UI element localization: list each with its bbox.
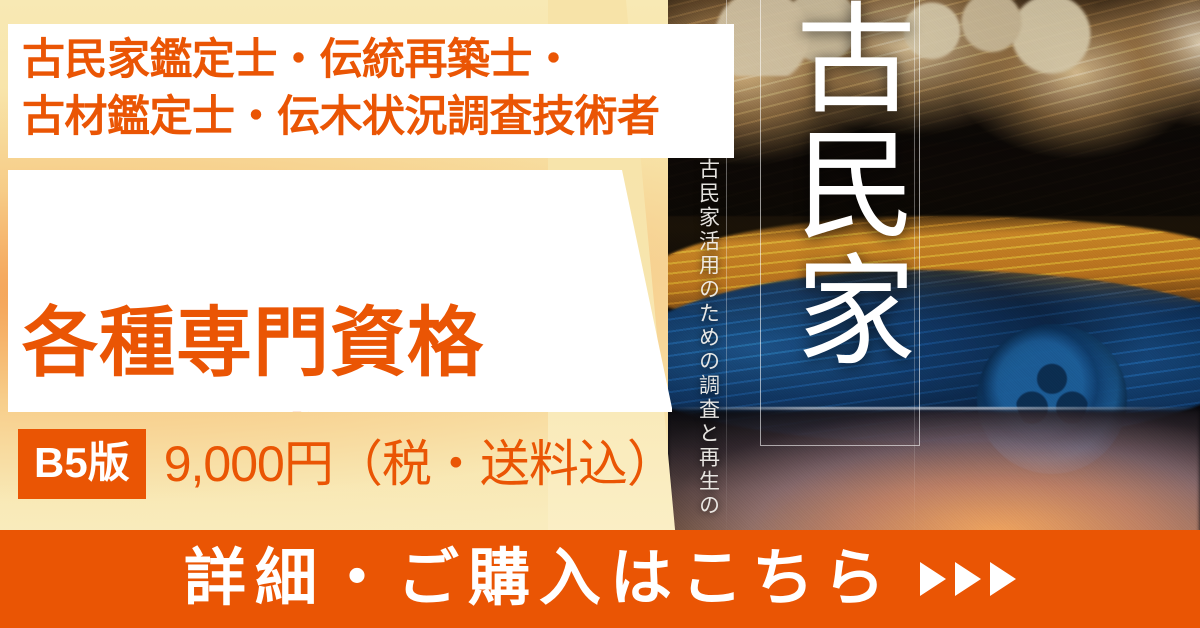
certifications-text: 古民家鑑定士・伝統再築士・ 古材鑑定士・伝木状況調査技術者 (22, 32, 728, 146)
cta-label[interactable]: 詳細・ご購入はこちら (184, 548, 894, 610)
cta-inner[interactable]: 詳細・ご購入はこちら (184, 548, 1016, 610)
price-row: B5版 9,000円（税・送料込） (18, 428, 676, 500)
price-text: 9,000円（税・送料込） (164, 439, 676, 489)
triangle-right-icon-3 (990, 562, 1016, 596)
headline-panel: 各種専門資格 公式テキスト (8, 170, 680, 412)
headline-line-1: 各種専門資格 (22, 301, 484, 386)
cover-photo-grain (668, 0, 1200, 540)
cta-arrows-icon (920, 562, 1016, 596)
triangle-right-icon-2 (955, 562, 981, 596)
triangle-right-icon-1 (920, 562, 946, 596)
book-cover-image: 伝統構法、古民家活用のための調査と再生の 古民家 (668, 0, 1200, 540)
cta-button-bar[interactable]: 詳細・ご購入はこちら (0, 530, 1200, 628)
format-badge: B5版 (18, 429, 146, 499)
promo-banner[interactable]: 伝統構法、古民家活用のための調査と再生の 古民家 古民家鑑定士・伝統再築士・ 古… (0, 0, 1200, 628)
book-cover-title: 古民家 (764, 0, 914, 374)
certifications-panel: 古民家鑑定士・伝統再築士・ 古材鑑定士・伝木状況調査技術者 (8, 24, 734, 158)
